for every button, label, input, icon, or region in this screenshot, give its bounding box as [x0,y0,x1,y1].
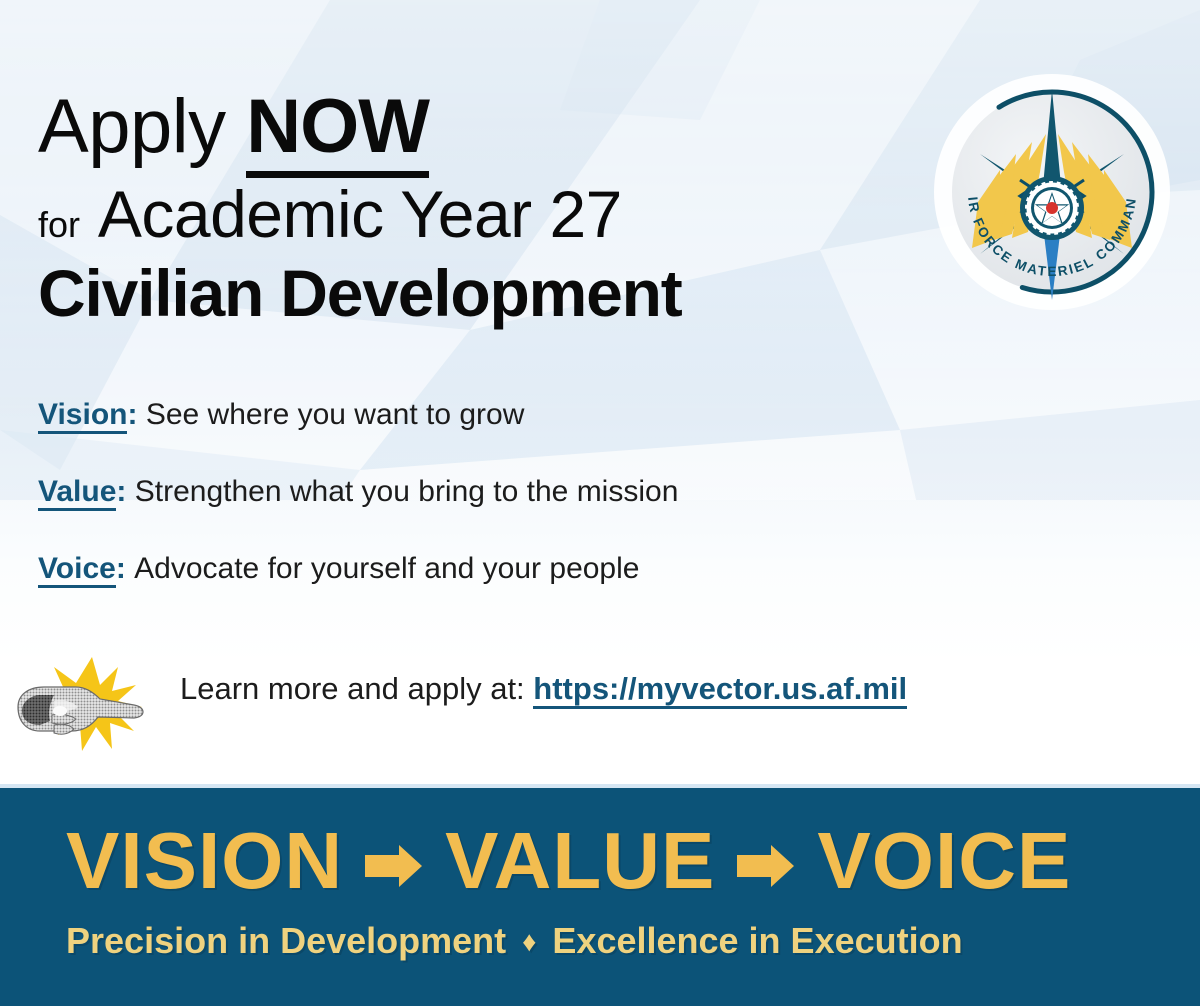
program-title: Civilian Development [38,256,918,330]
tagline-banner: VISIONVALUEVOICE Precision in Developmen… [0,788,1200,1006]
pillar-value: Value: Strengthen what you bring to the … [38,475,1158,509]
for-word: for [38,204,80,245]
pillar-text: Strengthen what you bring to the mission [135,475,679,508]
pillar-label: Value [38,475,116,511]
banner-sub-right: Excellence in Execution [552,920,962,961]
apply-word: Apply [38,84,226,169]
pillar-colon: : [116,475,126,508]
main-content: Apply NOW for Academic Year 27 Civilian … [0,0,1200,786]
headline-block: Apply NOW for Academic Year 27 Civilian … [38,88,918,330]
pillar-colon: : [127,398,137,431]
banner-word-voice: VOICE [817,816,1071,905]
academic-year-text: Academic Year 27 [98,177,622,251]
pillar-voice: Voice: Advocate for yourself and your pe… [38,552,1158,586]
right-arrow-icon [737,818,795,904]
pillar-colon: : [116,552,126,585]
pillar-vision: Vision: See where you want to grow [38,398,1158,432]
diamond-separator-icon: ♦ [522,926,536,958]
poster-root: Apply NOW for Academic Year 27 Civilian … [0,0,1200,1006]
pillar-text: Advocate for yourself and your people [134,552,639,585]
right-arrow-icon [365,818,423,904]
banner-word-value: VALUE [445,816,715,905]
pillar-label: Vision [38,398,127,434]
apply-now-line: Apply NOW [38,88,918,166]
pillar-text: See where you want to grow [146,398,525,431]
pillars-list: Vision: See where you want to grow Value… [38,398,1158,629]
pillar-label: Voice [38,552,116,588]
cta-text: Learn more and apply at: https://myvecto… [180,671,907,707]
cta-row: Learn more and apply at: https://myvecto… [14,655,1194,745]
myvector-url-link[interactable]: https://myvector.us.af.mil [533,671,907,709]
cta-prompt: Learn more and apply at: [180,671,525,706]
academic-year-line: for Academic Year 27 [38,176,918,252]
pointing-hand-icon [14,655,160,755]
banner-sub-left: Precision in Development [66,920,506,961]
banner-word-vision: VISION [66,816,343,905]
now-word: NOW [246,84,429,178]
air-force-materiel-command-seal: AIR FORCE MATERIEL COMMAND [928,68,1176,316]
banner-subtitle: Precision in Development♦Excellence in E… [0,920,1200,962]
banner-tagline: VISIONVALUEVOICE [0,818,1200,916]
